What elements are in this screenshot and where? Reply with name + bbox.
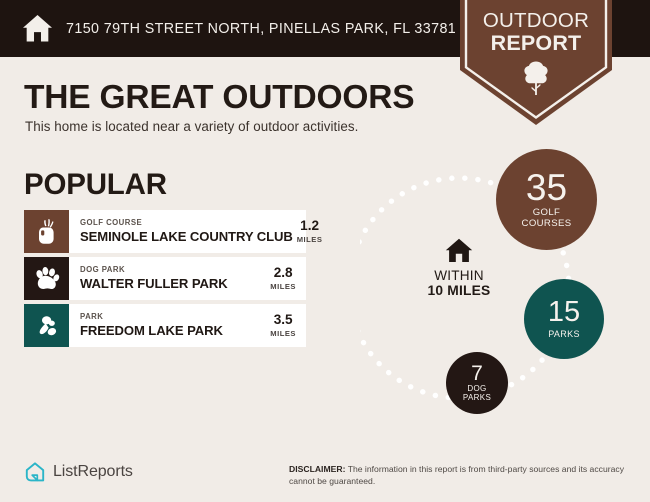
list-item-text: PARK FREEDOM LAKE PARK bbox=[69, 304, 266, 347]
list-item-name: FREEDOM LAKE PARK bbox=[80, 323, 266, 339]
stat-label-line-2: PARKS bbox=[463, 394, 491, 403]
listreports-house-icon bbox=[24, 461, 46, 483]
stat-circle-golf-courses: 35 GOLF COURSES bbox=[496, 149, 597, 250]
home-icon bbox=[445, 238, 473, 263]
outdoor-report-badge: OUTDOOR REPORT bbox=[460, 0, 612, 125]
list-item-distance: 2.8 MILES bbox=[266, 257, 306, 300]
popular-heading: POPULAR bbox=[24, 168, 167, 202]
dog-park-tile bbox=[24, 257, 69, 300]
distance-unit: MILES bbox=[297, 235, 323, 244]
list-item-category: DOG PARK bbox=[80, 265, 266, 275]
stat-count: 35 bbox=[526, 169, 567, 206]
diagram-center-label: WITHIN 10 MILES bbox=[404, 238, 514, 299]
stat-label-line-1: PARKS bbox=[548, 329, 580, 339]
list-item-distance: 3.5 MILES bbox=[266, 304, 306, 347]
stat-count: 15 bbox=[548, 298, 580, 327]
distance-value: 1.2 bbox=[300, 219, 319, 233]
tree-icon bbox=[523, 60, 549, 96]
distance-value: 2.8 bbox=[274, 266, 293, 280]
center-line-2: 10 MILES bbox=[404, 283, 514, 298]
stat-count: 7 bbox=[471, 363, 483, 384]
home-icon bbox=[22, 14, 53, 43]
list-item-distance: 1.2 MILES bbox=[293, 210, 333, 253]
outdoor-report-infographic: 7150 79TH STREET NORTH, PINELLAS PARK, F… bbox=[0, 0, 650, 502]
distance-unit: MILES bbox=[270, 282, 296, 291]
center-line-1: WITHIN bbox=[404, 268, 514, 283]
list-item-name: WALTER FULLER PARK bbox=[80, 276, 266, 292]
disclaimer-label: DISCLAIMER: bbox=[289, 464, 345, 474]
popular-places-list: GOLF COURSE SEMINOLE LAKE COUNTRY CLUB 1… bbox=[24, 210, 306, 351]
paw-icon bbox=[33, 266, 60, 292]
list-item[interactable]: DOG PARK WALTER FULLER PARK 2.8 MILES bbox=[24, 257, 306, 300]
property-address: 7150 79TH STREET NORTH, PINELLAS PARK, F… bbox=[66, 21, 456, 37]
golf-bag-icon bbox=[35, 218, 59, 246]
stat-label-line-2: COURSES bbox=[522, 219, 572, 230]
list-item[interactable]: GOLF COURSE SEMINOLE LAKE COUNTRY CLUB 1… bbox=[24, 210, 306, 253]
listreports-logo[interactable]: ListReports bbox=[24, 461, 133, 483]
disclaimer: DISCLAIMER: The information in this repo… bbox=[289, 463, 634, 487]
list-item-category: GOLF COURSE bbox=[80, 218, 293, 228]
list-item-text: DOG PARK WALTER FULLER PARK bbox=[69, 257, 266, 300]
page-title: THE GREAT OUTDOORS bbox=[24, 79, 414, 117]
within-10-miles-diagram: 35 GOLF COURSES 15 PARKS 7 DOG PARKS WIT… bbox=[360, 130, 650, 440]
golf-course-tile bbox=[24, 210, 69, 253]
list-item[interactable]: PARK FREEDOM LAKE PARK 3.5 MILES bbox=[24, 304, 306, 347]
page-subtitle: This home is located near a variety of o… bbox=[25, 119, 358, 134]
park-tile bbox=[24, 304, 69, 347]
distance-value: 3.5 bbox=[274, 313, 293, 327]
list-item-text: GOLF COURSE SEMINOLE LAKE COUNTRY CLUB bbox=[69, 210, 293, 253]
distance-unit: MILES bbox=[270, 329, 296, 338]
park-tree-icon bbox=[34, 314, 60, 338]
stat-circle-dog-parks: 7 DOG PARKS bbox=[446, 352, 508, 414]
list-item-category: PARK bbox=[80, 312, 266, 322]
listreports-logo-text: ListReports bbox=[53, 463, 133, 481]
stat-circle-parks: 15 PARKS bbox=[524, 279, 604, 359]
list-item-name: SEMINOLE LAKE COUNTRY CLUB bbox=[80, 229, 293, 245]
header-address-group: 7150 79TH STREET NORTH, PINELLAS PARK, F… bbox=[22, 0, 456, 57]
